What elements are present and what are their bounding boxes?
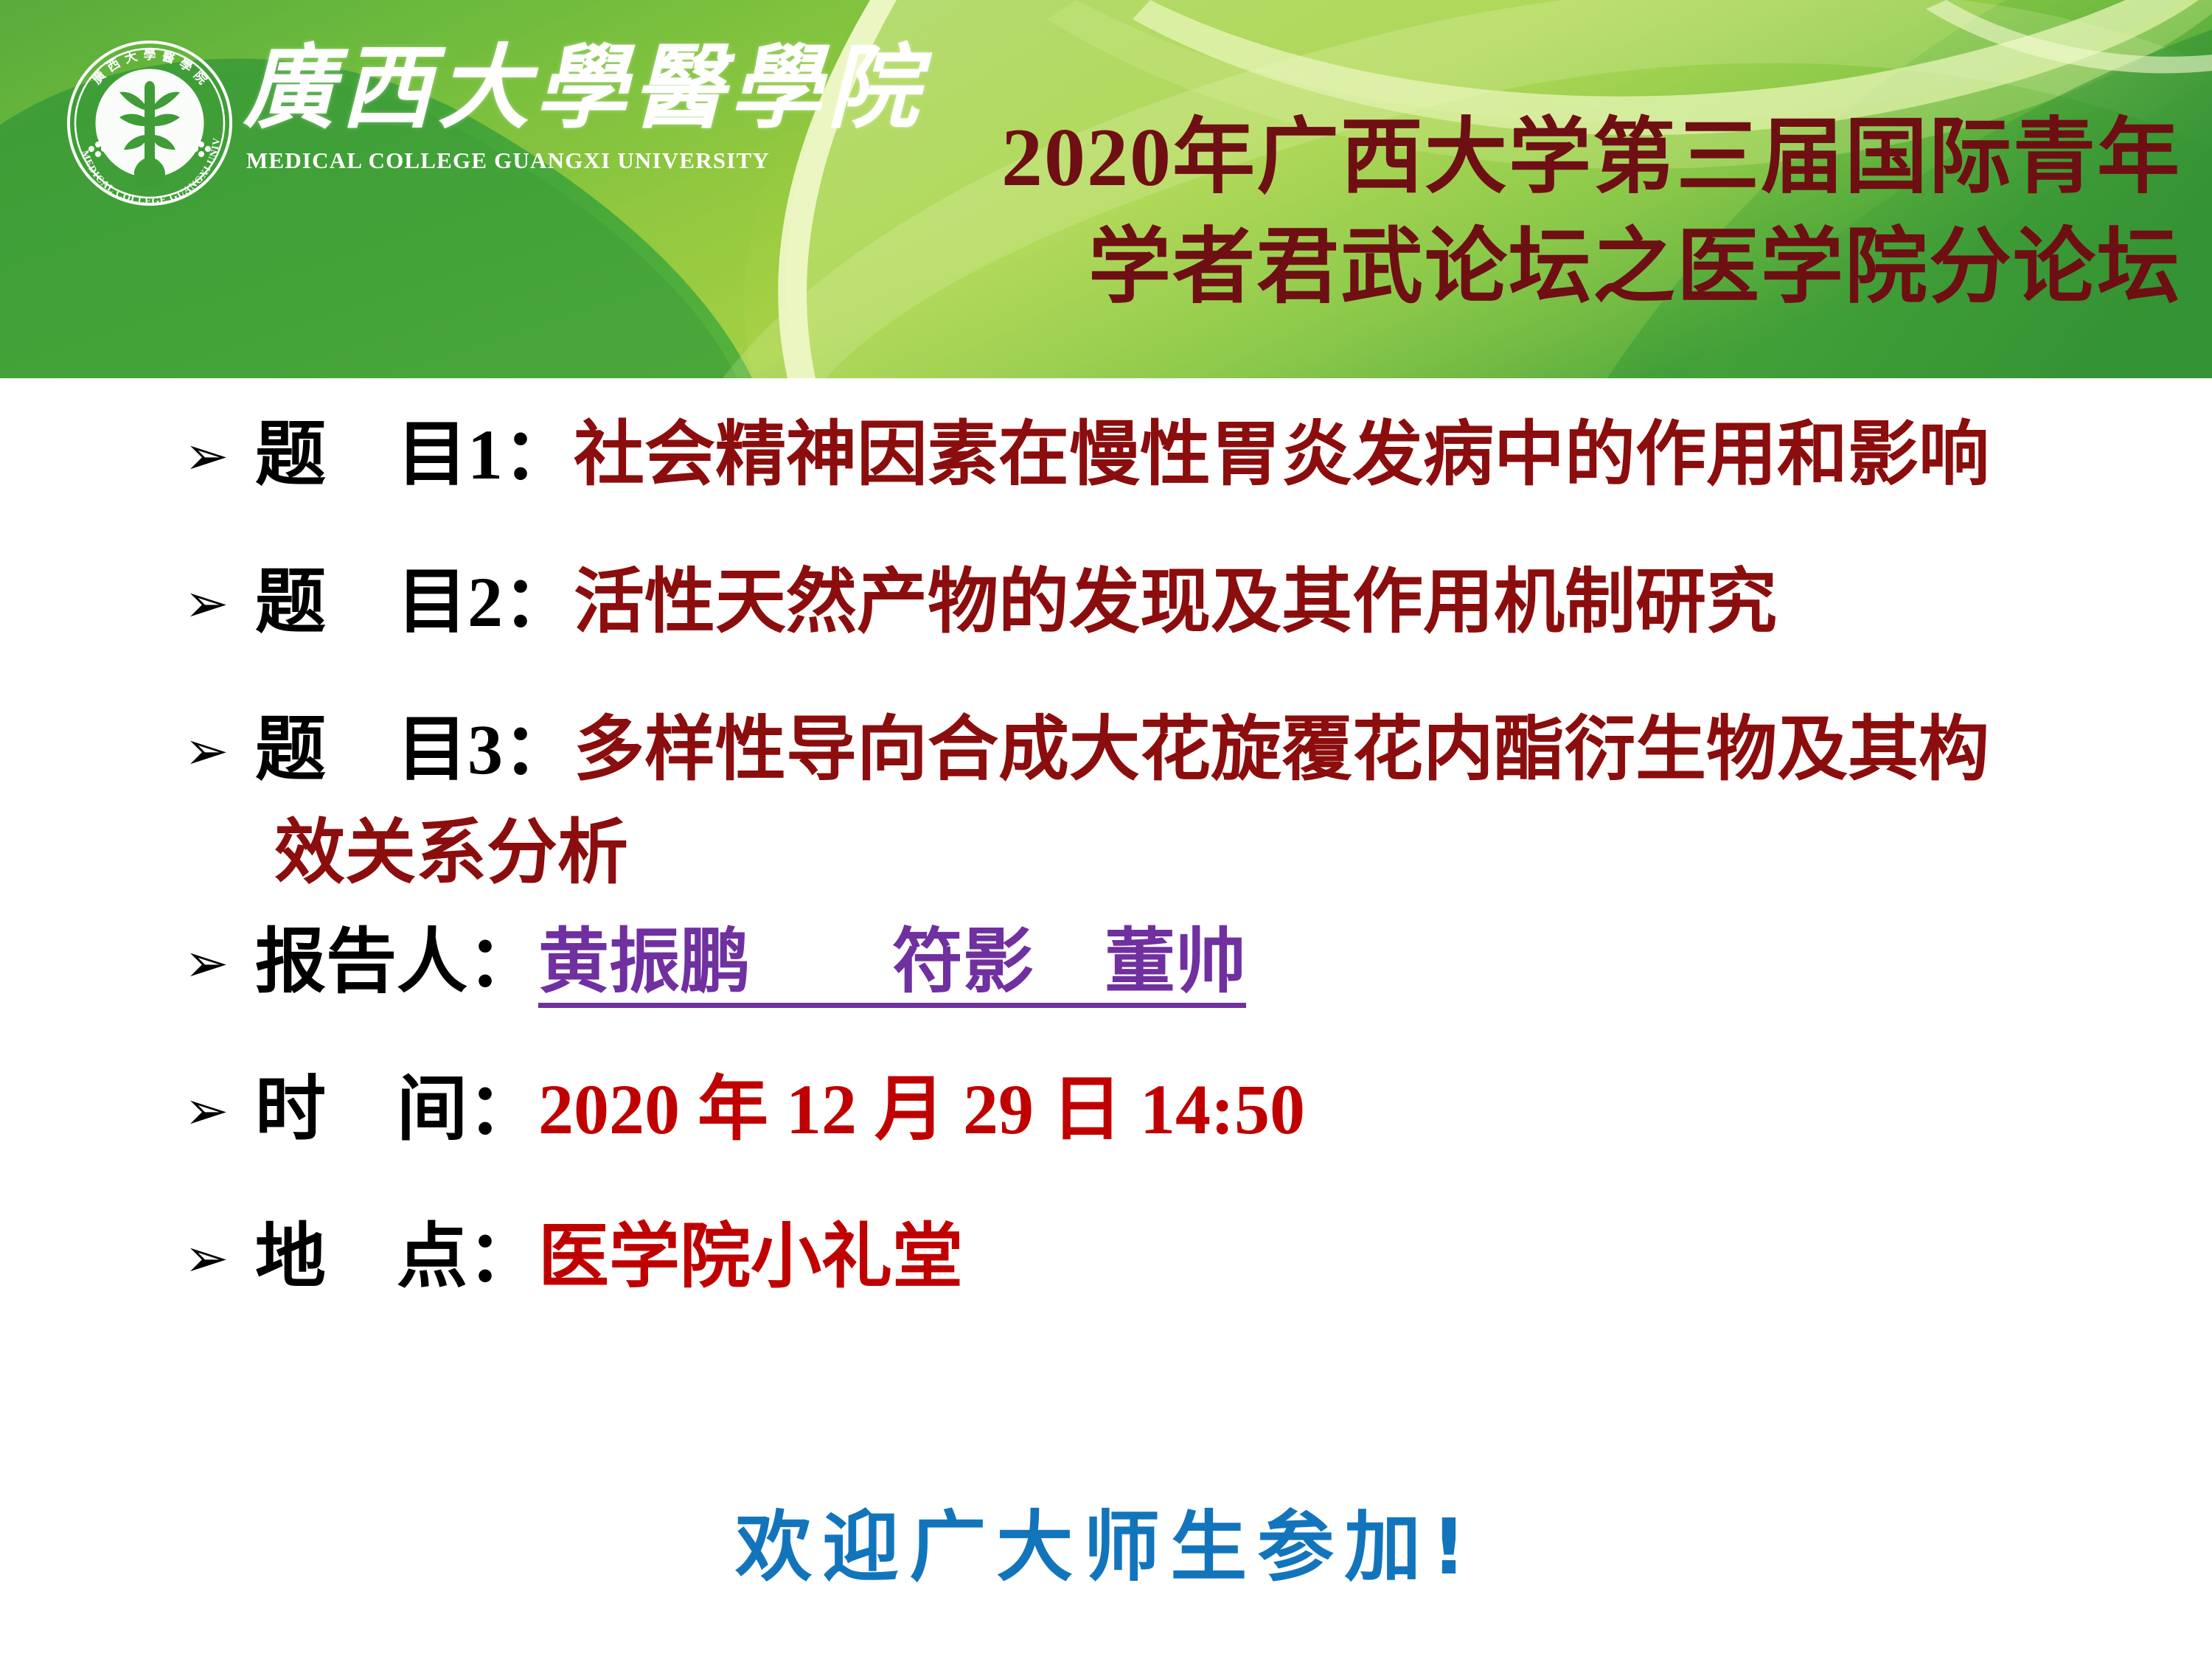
header-banner: 廣 西 大 學 醫 學 院 2016 MEDICAL COL — [0, 0, 2212, 378]
list-item-time: ➢时 间：2020 年 12 月 29 日 14:50 — [184, 1074, 1305, 1145]
arrow-bullet-icon: ➢ — [184, 1084, 255, 1137]
topic-3-continuation: 效关系分析 — [274, 818, 628, 888]
topic-2-value: 活性天然产物的发现及其作用机制研究 — [574, 563, 1777, 641]
seal-year: 2016 — [133, 171, 166, 189]
topic-3-value-wrap: 效关系分析 — [274, 813, 628, 892]
topic-1-value: 社会精神因素在慢性胃炎发病中的作用和影响 — [574, 415, 1989, 494]
topic-3-value: 多样性导向合成大花旋覆花内酯衍生物及其构 — [574, 710, 1989, 789]
svg-text:西: 西 — [105, 56, 122, 74]
svg-text:學: 學 — [144, 48, 156, 62]
svg-text:大: 大 — [122, 49, 139, 66]
place-value: 医学院小礼堂 — [538, 1217, 963, 1296]
event-title-line-2: 学者君武论坛之医学院分论坛 — [928, 213, 2181, 323]
arrow-bullet-icon: ➢ — [184, 577, 255, 630]
place-label: 地 点： — [255, 1222, 538, 1293]
svg-text:學: 學 — [177, 56, 195, 74]
university-name-english: MEDICAL COLLEGE GUANGXI UNIVERSITY — [246, 147, 792, 174]
list-item-place: ➢地 点：医学院小礼堂 — [184, 1222, 963, 1293]
arrow-bullet-icon: ➢ — [184, 724, 255, 777]
arrow-bullet-icon: ➢ — [184, 1231, 255, 1284]
event-title-line-1: 2020年广西大学第三届国际青年 — [928, 103, 2181, 213]
svg-text:廣: 廣 — [89, 68, 108, 87]
topic-2-label: 题 目2： — [255, 567, 574, 638]
welcome-message: 欢迎广大师生参加! — [0, 1484, 2212, 1596]
svg-text:醫: 醫 — [161, 49, 177, 66]
arrow-bullet-icon: ➢ — [184, 936, 255, 990]
speakers-value: 黄振鹏 符影 董帅 — [538, 922, 1246, 1008]
time-label: 时 间： — [255, 1074, 538, 1145]
university-name-chinese: 廣西大學醫學院 — [243, 43, 774, 136]
list-item-topic-2: ➢题 目2：活性天然产物的发现及其作用机制研究 — [184, 567, 1777, 638]
time-value: 2020 年 12 月 29 日 14:50 — [538, 1070, 1305, 1149]
list-item-topic-3: ➢题 目3：多样性导向合成大花旋覆花内酯衍生物及其构 — [184, 714, 1989, 785]
list-item-topic-1: ➢题 目1：社会精神因素在慢性胃炎发病中的作用和影响 — [184, 420, 1989, 490]
topic-1-label: 题 目1： — [255, 420, 574, 490]
svg-text:院: 院 — [191, 68, 210, 87]
event-title: 2020年广西大学第三届国际青年 学者君武论坛之医学院分论坛 — [928, 103, 2181, 323]
arrow-bullet-icon: ➢ — [184, 429, 255, 482]
slide-content: ➢题 目1：社会精神因素在慢性胃炎发病中的作用和影响 ➢题 目2：活性天然产物的… — [0, 378, 2212, 1659]
topic-3-label: 题 目3： — [255, 714, 574, 785]
speakers-label: 报告人： — [255, 927, 538, 998]
list-item-speakers: ➢报告人：黄振鹏 符影 董帅 — [184, 927, 1246, 998]
university-seal-icon: 廣 西 大 學 醫 學 院 2016 MEDICAL COL — [65, 38, 234, 208]
